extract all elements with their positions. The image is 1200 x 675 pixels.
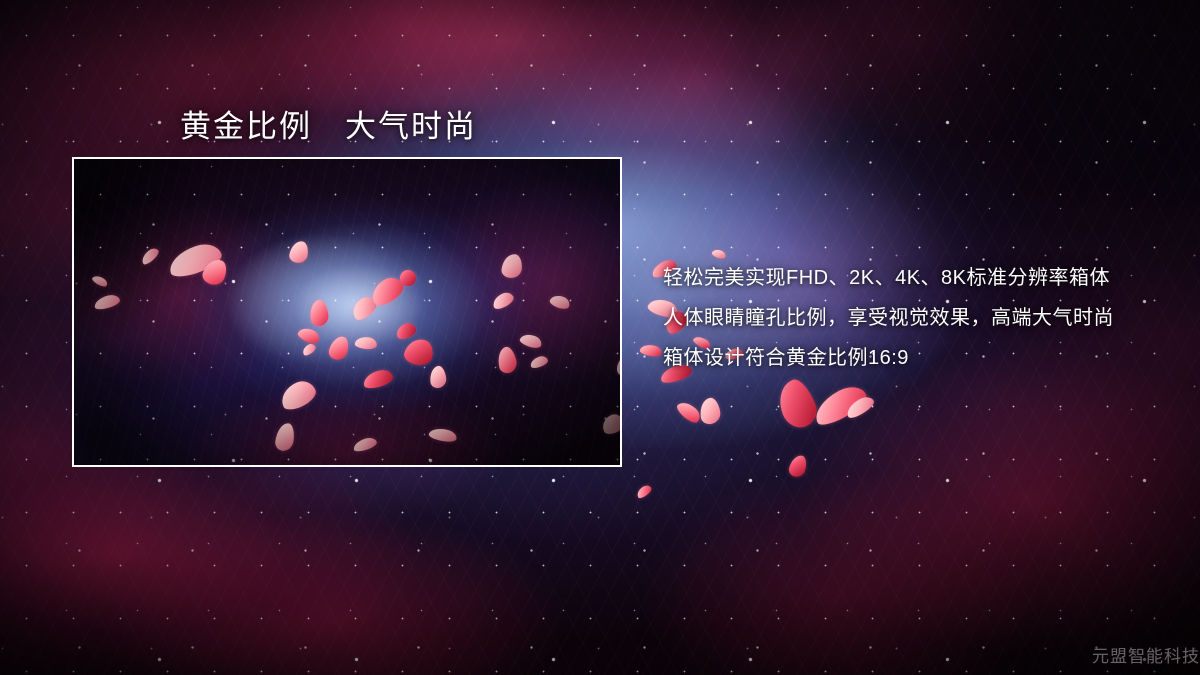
body-line: 箱体设计符合黄金比例16:9 [663,338,1183,378]
body-line: 轻松完美实现FHD、2K、4K、8K标准分辨率箱体 [663,258,1183,298]
watermark: 元盟智能科技 [1092,642,1200,667]
petal-decoration [787,453,808,478]
petal-decoration [635,483,653,500]
petal-decoration [698,397,721,426]
petal-decoration [639,343,663,358]
petal-decoration [772,375,822,432]
framed-nebula-petals-photo [72,157,622,467]
presentation-slide: 黄金比例 大气时尚 轻松完美实现FHD、2K、4K、8K标准分辨率箱体 人体眼睛… [0,0,1200,675]
body-text-block: 轻松完美实现FHD、2K、4K、8K标准分辨率箱体 人体眼睛瞳孔比例，享受视觉效… [663,258,1183,378]
photo-inner [74,159,620,465]
page-title: 黄金比例 大气时尚 [180,101,477,146]
body-line: 人体眼睛瞳孔比例，享受视觉效果，高端大气时尚 [663,298,1183,338]
petal-decoration [675,398,704,426]
photo-vignette [74,159,620,465]
